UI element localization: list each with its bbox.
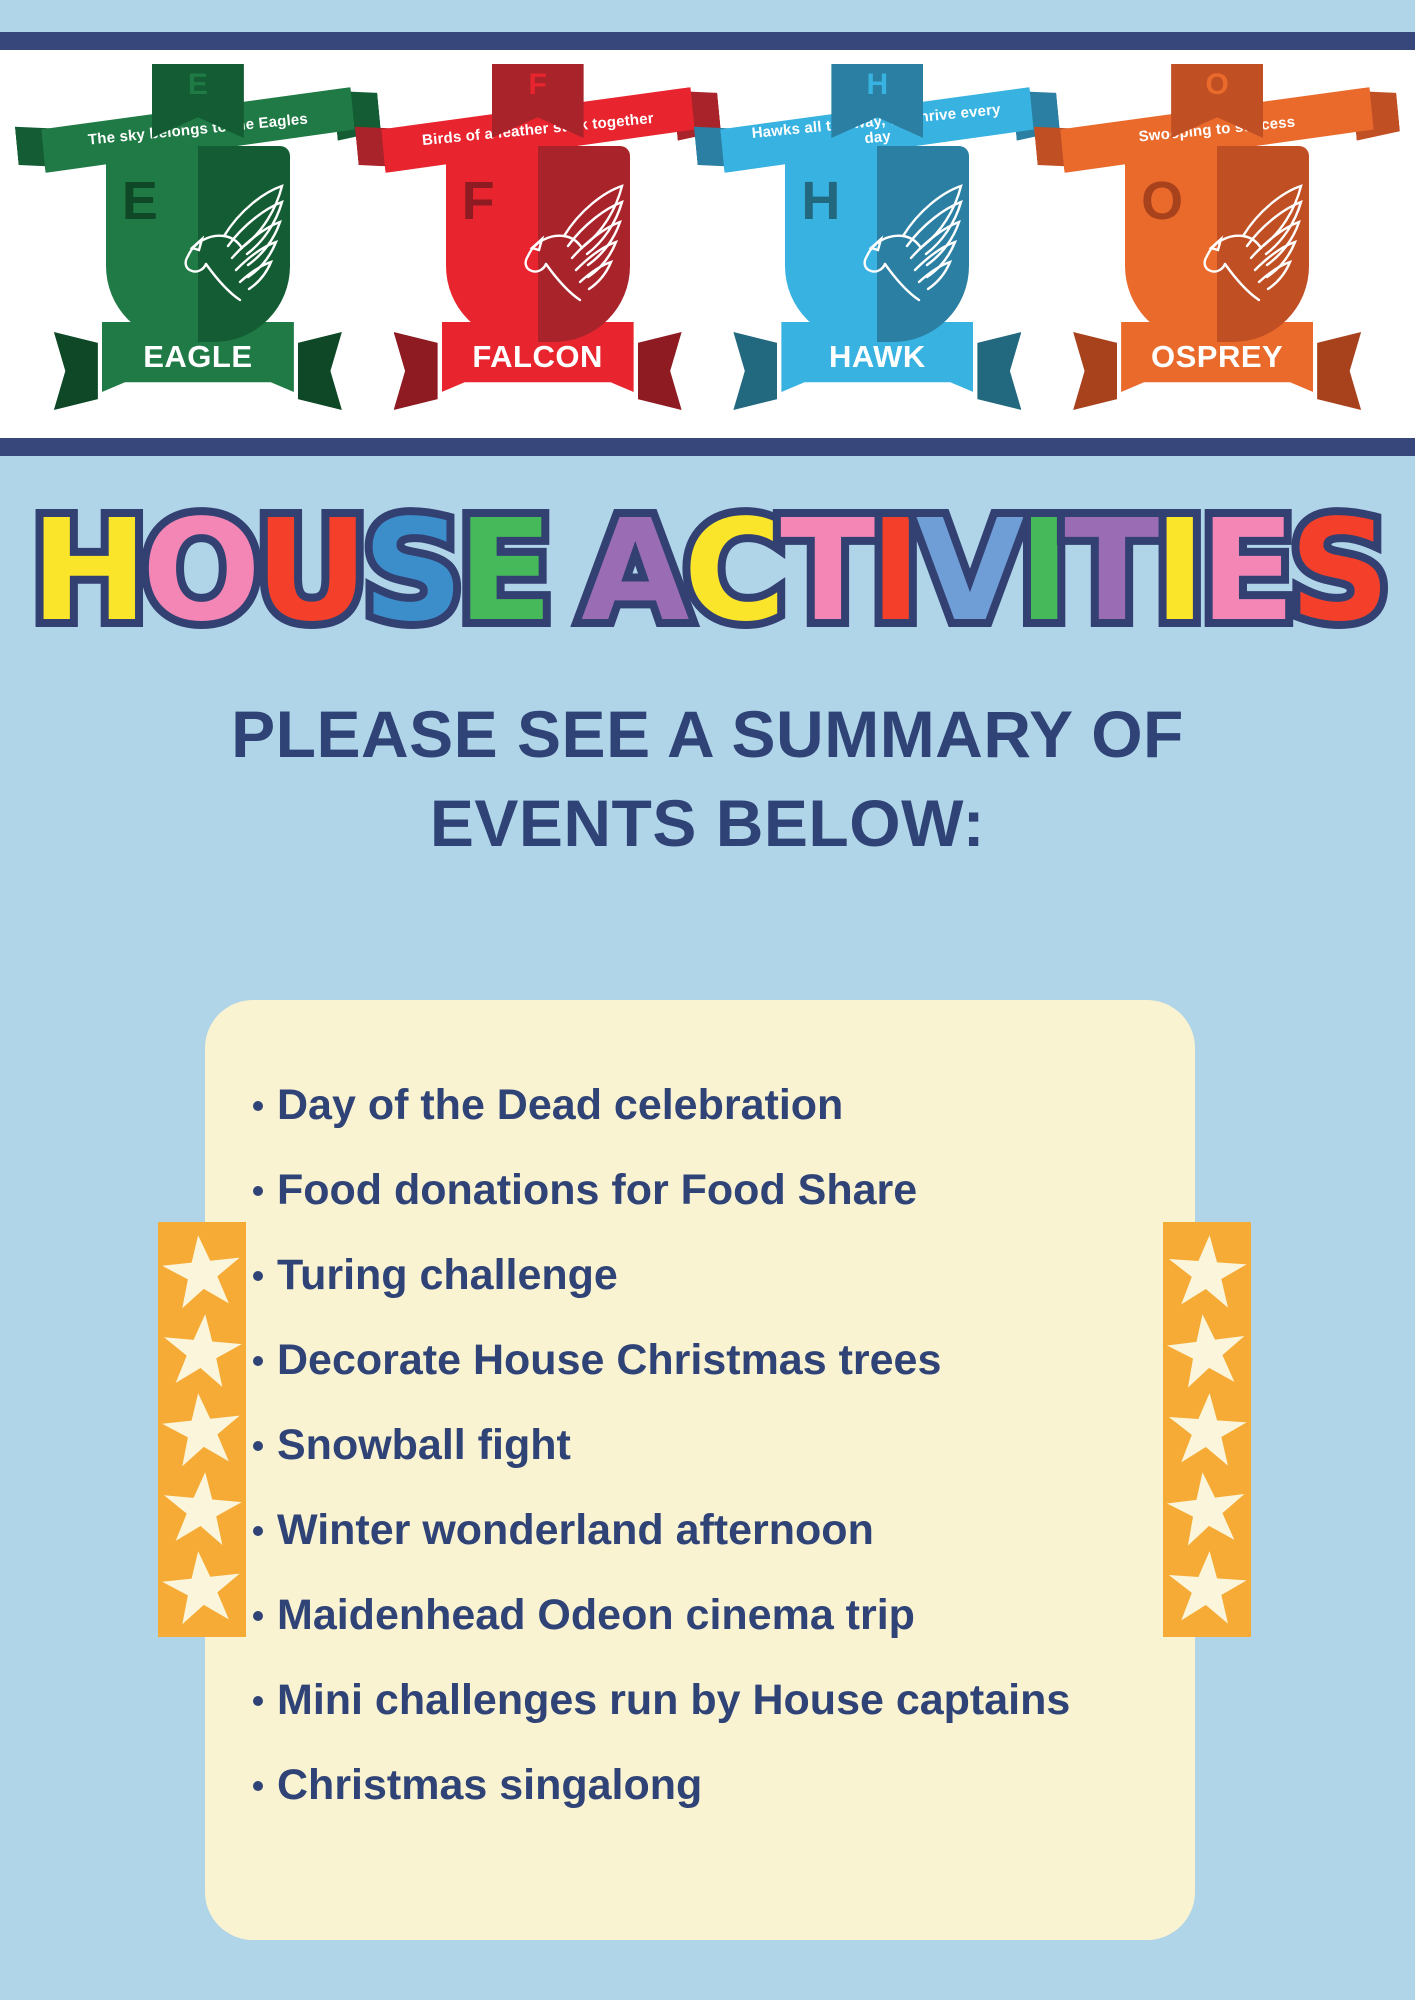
title-letter-c: C	[683, 502, 780, 642]
bird-emblem-icon	[1193, 160, 1305, 310]
house-name-label: HAWK	[829, 339, 926, 375]
navy-rule-bottom	[0, 438, 1415, 456]
banner-wing-left	[54, 332, 98, 410]
title-letter-t: T	[780, 502, 870, 642]
subtitle: PLEASE SEE A SUMMARY OF EVENTS BELOW:	[0, 690, 1415, 868]
house-initial-shield: H	[801, 170, 840, 232]
star-icon	[1166, 1548, 1249, 1627]
bullet-icon	[253, 1101, 263, 1111]
bullet-icon	[253, 1526, 263, 1536]
event-list-item: Mini challenges run by House captains	[235, 1679, 1195, 1722]
house-name-label: OSPREY	[1151, 339, 1283, 375]
star-icon	[1164, 1467, 1250, 1550]
house-crest-hawk: H Hawks all the way, we thrive every day…	[727, 50, 1027, 430]
house-crest-falcon: F Birds of a feather stick together F	[388, 50, 688, 430]
house-initial-pennant: F	[528, 68, 546, 102]
events-list: Day of the Dead celebrationFood donation…	[205, 1084, 1195, 1849]
star-icon	[1166, 1232, 1249, 1311]
bird-illustration	[174, 160, 286, 315]
navy-rule-top	[0, 32, 1415, 50]
event-list-item: Food donations for Food Share	[235, 1169, 1195, 1212]
house-shield-falcon: F	[446, 146, 630, 342]
title-letter-h: H	[31, 502, 142, 642]
house-name-label: EAGLE	[143, 339, 252, 375]
title-letter-i: I	[1154, 502, 1200, 642]
event-list-item: Christmas singalong	[235, 1764, 1195, 1807]
title-letter-a: A	[581, 502, 683, 642]
bird-emblem-icon	[514, 160, 626, 310]
title-letter-s: S	[363, 502, 458, 642]
star-bar-left	[158, 1222, 246, 1637]
event-label: Mini challenges run by House captains	[277, 1676, 1070, 1724]
bullet-icon	[253, 1696, 263, 1706]
title-letter-u: U	[255, 502, 363, 642]
banner-wing-left	[733, 332, 777, 410]
house-crest-band: E The sky belongs to the Eagles E	[0, 50, 1415, 438]
star-icon	[159, 1231, 244, 1313]
house-shield-eagle: E	[106, 146, 290, 342]
event-list-item: Winter wonderland afternoon	[235, 1509, 1195, 1552]
event-label: Christmas singalong	[277, 1761, 702, 1809]
bird-illustration	[1193, 160, 1305, 315]
house-initial-pennant: E	[188, 68, 208, 102]
bird-illustration	[514, 160, 626, 315]
bird-emblem-icon	[853, 160, 965, 310]
event-label: Maidenhead Odeon cinema trip	[277, 1591, 915, 1639]
house-initial-shield: O	[1141, 170, 1183, 232]
subtitle-line-2: EVENTS BELOW:	[0, 779, 1415, 868]
event-label: Winter wonderland afternoon	[277, 1506, 874, 1554]
event-list-item: Maidenhead Odeon cinema trip	[235, 1594, 1195, 1637]
bird-illustration	[853, 160, 965, 315]
banner-wing-right	[638, 332, 682, 410]
event-label: Decorate House Christmas trees	[277, 1336, 941, 1384]
event-label: Day of the Dead celebration	[277, 1081, 843, 1129]
title-letter-i: I	[1018, 502, 1064, 642]
event-label: Snowball fight	[277, 1421, 571, 1469]
event-list-item: Snowball fight	[235, 1424, 1195, 1467]
house-initial-shield: E	[122, 170, 158, 232]
event-label: Turing challenge	[277, 1251, 618, 1299]
house-crest-osprey: O Swooping to success O	[1067, 50, 1367, 430]
house-crest-row: E The sky belongs to the Eagles E	[0, 50, 1415, 438]
page-top-margin	[0, 0, 1415, 30]
bullet-icon	[253, 1356, 263, 1366]
title-letter-t: T	[1064, 502, 1154, 642]
title-letter-i: I	[870, 502, 916, 642]
banner-wing-right	[977, 332, 1021, 410]
star-icon	[1164, 1309, 1250, 1392]
banner-wing-right	[1317, 332, 1361, 410]
title-letter-e: E	[457, 502, 547, 642]
bullet-icon	[253, 1441, 263, 1451]
star-icon	[160, 1310, 244, 1391]
bullet-icon	[253, 1611, 263, 1621]
bullet-icon	[253, 1271, 263, 1281]
house-shield-osprey: O	[1125, 146, 1309, 342]
house-name-label: FALCON	[472, 339, 602, 375]
star-bar-right	[1163, 1222, 1251, 1637]
bird-emblem-icon	[174, 160, 286, 310]
banner-wing-right	[298, 332, 342, 410]
bullet-icon	[253, 1781, 263, 1791]
events-card: Day of the Dead celebrationFood donation…	[205, 1000, 1195, 1940]
house-initial-pennant: H	[867, 68, 889, 102]
event-list-item: Day of the Dead celebration	[235, 1084, 1195, 1127]
house-initial-pennant: O	[1205, 68, 1228, 102]
star-icon	[159, 1389, 244, 1471]
title-letter-v: V	[916, 502, 1018, 642]
title-letter-s: S	[1289, 502, 1384, 642]
house-crest-eagle: E The sky belongs to the Eagles E	[48, 50, 348, 430]
house-shield-hawk: H	[785, 146, 969, 342]
banner-wing-left	[394, 332, 438, 410]
star-icon	[1166, 1390, 1249, 1469]
star-icon	[160, 1468, 244, 1549]
bullet-icon	[253, 1186, 263, 1196]
page-title: HOUSEACTIVITIES	[0, 492, 1415, 652]
star-icon	[159, 1547, 244, 1629]
event-label: Food donations for Food Share	[277, 1166, 917, 1214]
subtitle-line-1: PLEASE SEE A SUMMARY OF	[0, 690, 1415, 779]
banner-wing-left	[1073, 332, 1117, 410]
house-initial-shield: F	[462, 170, 495, 232]
event-list-item: Turing challenge	[235, 1254, 1195, 1297]
title-letter-o: O	[142, 502, 255, 642]
title-letter-e: E	[1200, 502, 1290, 642]
event-list-item: Decorate House Christmas trees	[235, 1339, 1195, 1382]
